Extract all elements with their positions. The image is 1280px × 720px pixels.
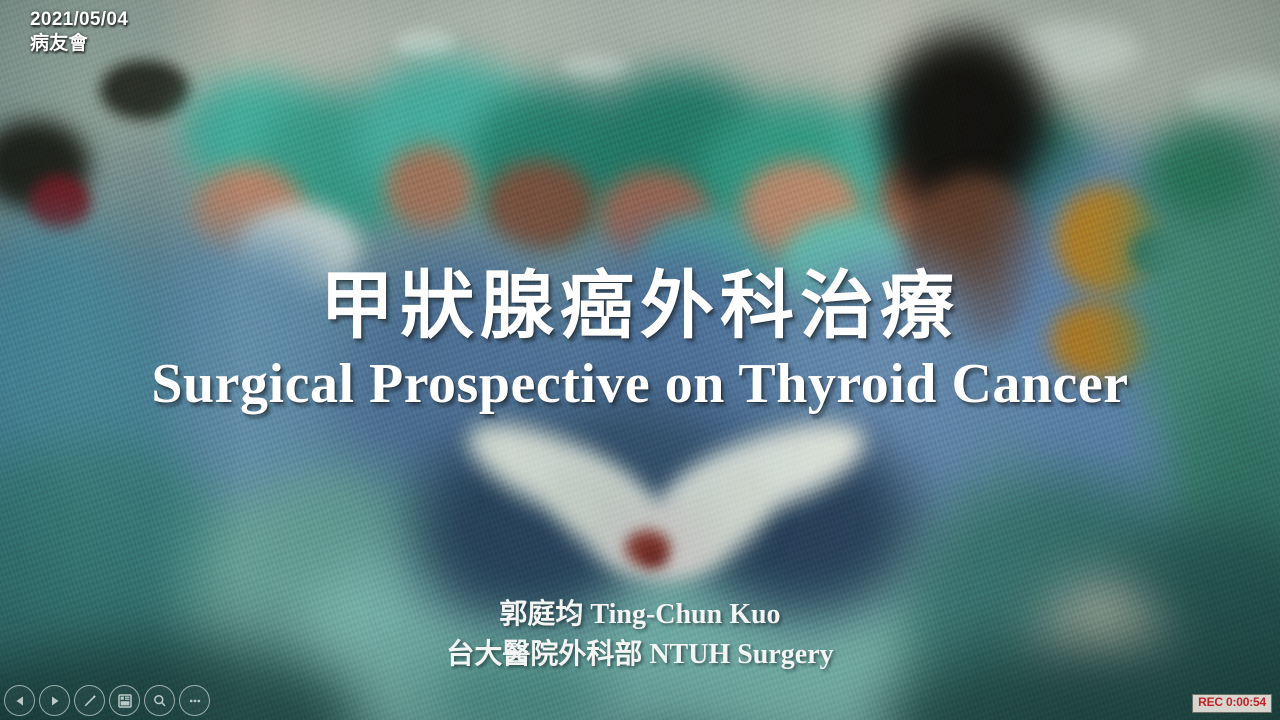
recording-date: 2021/05/04 <box>30 8 128 32</box>
magnifier-icon <box>152 693 168 709</box>
ellipsis-icon <box>187 693 203 709</box>
next-slide-button[interactable] <box>39 685 70 716</box>
slide-title-block: 甲狀腺癌外科治療 Surgical Prospective on Thyroid… <box>0 268 1280 416</box>
previous-slide-button[interactable] <box>4 685 35 716</box>
more-options-button[interactable] <box>179 685 210 716</box>
presenter-block: 郭庭均 Ting-Chun Kuo 台大醫院外科部 NTUH Surgery <box>0 595 1280 675</box>
slide-layout-button[interactable] <box>109 685 140 716</box>
presentation-recording-screen: 2021/05/04 病友會 甲狀腺癌外科治療 Surgical Prospec… <box>0 0 1280 720</box>
presenter-affiliation: 台大醫院外科部 NTUH Surgery <box>0 635 1280 675</box>
player-toolbar[interactable] <box>4 685 210 716</box>
slide-layout-icon <box>117 693 133 709</box>
pen-tool-button[interactable] <box>74 685 105 716</box>
slide-title-chinese: 甲狀腺癌外科治療 <box>0 268 1280 346</box>
zoom-tool-button[interactable] <box>144 685 175 716</box>
recording-metadata: 2021/05/04 病友會 <box>30 8 128 57</box>
pen-icon <box>82 693 98 709</box>
presenter-name: 郭庭均 Ting-Chun Kuo <box>0 595 1280 635</box>
triangle-right-icon <box>48 694 62 708</box>
slide-title-english: Surgical Prospective on Thyroid Cancer <box>0 352 1280 416</box>
recording-status-badge: REC 0:00:54 <box>1192 694 1272 713</box>
recording-event-name: 病友會 <box>30 32 128 56</box>
triangle-left-icon <box>13 694 27 708</box>
